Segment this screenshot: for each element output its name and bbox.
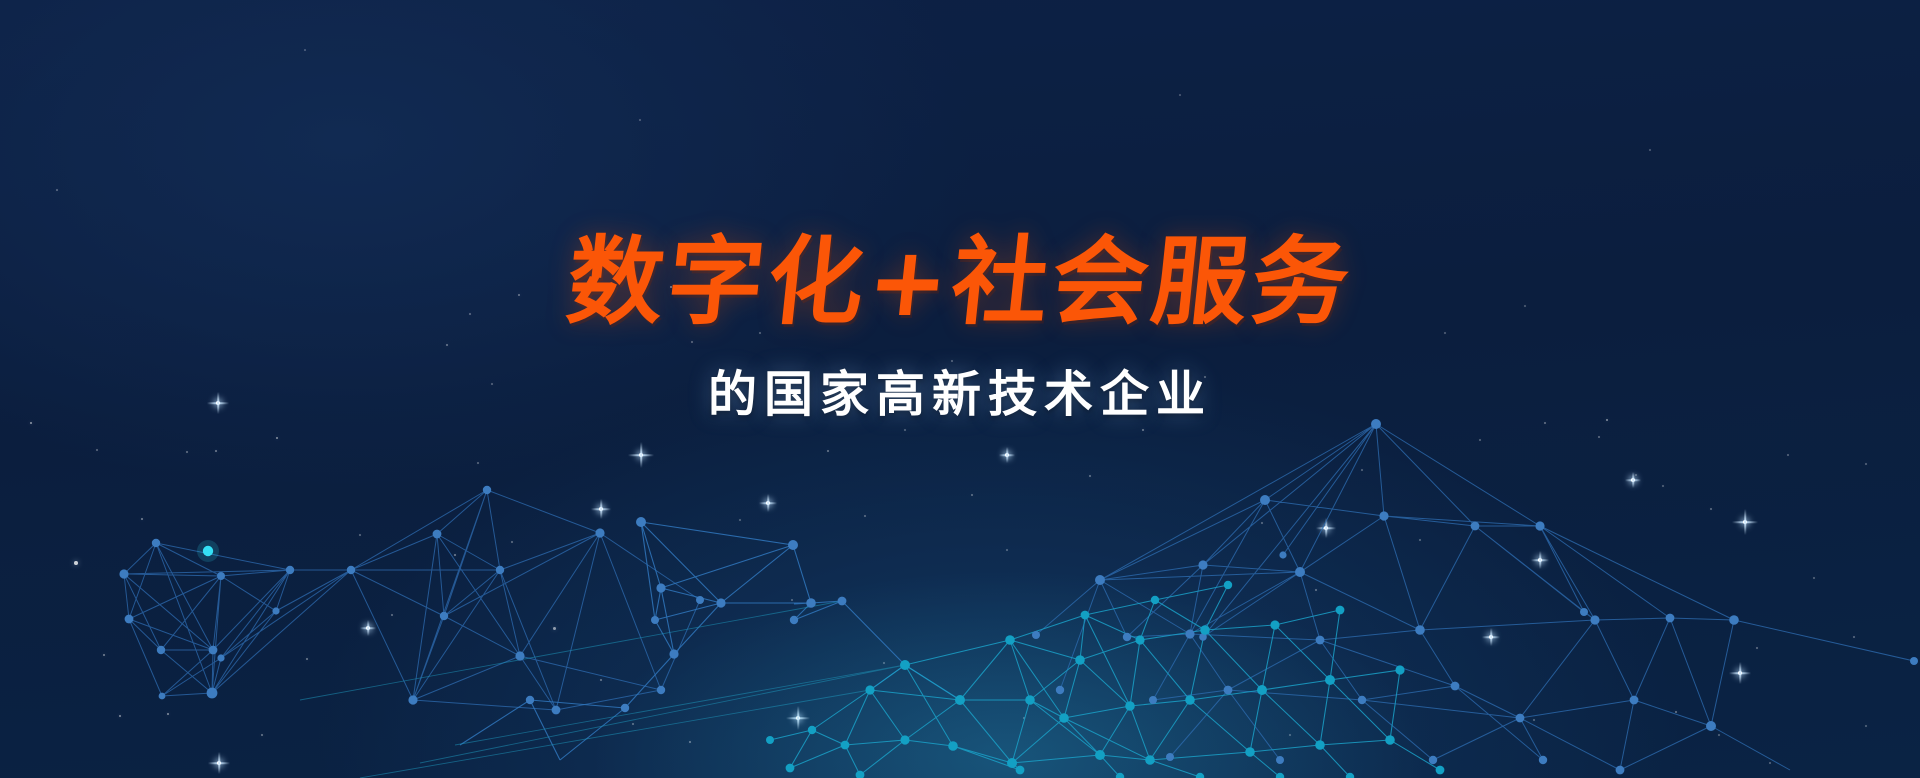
star-sparkle-icon — [1316, 518, 1336, 538]
star-dot — [1361, 469, 1363, 471]
star-dot — [1006, 549, 1008, 551]
star-dot — [883, 662, 885, 664]
star-dot — [1756, 647, 1758, 649]
star-dot — [215, 450, 217, 452]
star-dot — [141, 518, 143, 520]
star-dot — [827, 450, 829, 452]
star-dot — [639, 119, 641, 121]
star-dot — [1787, 454, 1789, 456]
star-dot — [1635, 474, 1637, 476]
star-dot — [477, 462, 479, 464]
star-dot — [1769, 762, 1771, 764]
star-dot — [1089, 475, 1091, 477]
star-dot — [1479, 439, 1481, 441]
hero-banner: 数字化+社会服务 的国家高新技术企业 — [0, 0, 1920, 778]
star-dot — [1023, 717, 1025, 719]
star-sparkle-icon — [628, 442, 654, 468]
star-dot — [553, 627, 556, 630]
star-dot — [1598, 436, 1600, 438]
star-dot — [511, 541, 513, 543]
star-dot — [1261, 522, 1263, 524]
star-dot — [1289, 734, 1291, 736]
star-dot — [304, 49, 306, 51]
page-subtitle: 的国家高新技术企业 — [0, 355, 1920, 426]
star-dot — [791, 599, 793, 601]
star-dot — [186, 451, 188, 453]
star-dot — [1853, 636, 1855, 638]
network-long-rays — [300, 601, 905, 778]
star-sparkle-icon — [999, 447, 1015, 463]
star-dot — [454, 554, 456, 556]
star-dot — [1865, 725, 1867, 727]
star-dot — [1813, 577, 1815, 579]
star-sparkle-icon — [208, 752, 230, 774]
star-dot — [1662, 485, 1664, 487]
star-dot — [74, 561, 78, 565]
star-dot — [1315, 589, 1317, 591]
star-dot — [1675, 711, 1677, 713]
star-dot — [391, 614, 393, 616]
star-dot — [119, 715, 122, 718]
star-dot — [359, 534, 361, 536]
star-dot — [56, 189, 58, 191]
star-dot — [864, 515, 866, 517]
star-dot — [276, 437, 279, 440]
star-sparkle-icon — [591, 499, 611, 519]
network-nodes-teal — [766, 581, 1444, 778]
network-nodes-blue — [119, 419, 1918, 774]
star-dot — [1865, 463, 1867, 465]
star-dot — [1649, 149, 1651, 151]
star-sparkle-icon — [360, 620, 376, 636]
star-dot — [1718, 734, 1720, 736]
star-sparkle-icon — [1625, 472, 1641, 488]
star-dot — [306, 658, 308, 660]
star-dot — [904, 429, 906, 431]
star-dot — [96, 449, 98, 451]
network-edges-teal-cluster — [770, 585, 1440, 777]
network-edges-left — [124, 543, 351, 696]
star-sparkle-icon — [1531, 551, 1549, 569]
network-edges-right — [1036, 424, 1914, 770]
star-dot — [1710, 508, 1712, 510]
star-sparkle-icon — [1729, 662, 1751, 684]
network-edges-center — [460, 522, 960, 760]
star-dot — [1533, 719, 1535, 721]
star-dot — [167, 713, 170, 716]
star-dot — [689, 741, 691, 743]
network-edges-center-left — [351, 490, 700, 710]
star-dot — [261, 734, 263, 736]
star-dot — [600, 679, 602, 681]
hero-text-block: 数字化+社会服务 的国家高新技术企业 — [0, 232, 1920, 426]
star-dot — [739, 519, 741, 521]
star-dot — [103, 654, 105, 656]
star-sparkle-icon — [1482, 628, 1500, 646]
star-dot — [1179, 94, 1181, 96]
star-sparkle-icon — [759, 494, 777, 512]
page-title: 数字化+社会服务 — [0, 232, 1920, 333]
star-dot — [1419, 539, 1421, 541]
star-sparkle-icon — [786, 706, 810, 730]
star-dot — [632, 723, 634, 725]
network-node-highlight — [197, 540, 219, 562]
star-sparkle-icon — [1732, 509, 1758, 535]
star-dot — [1142, 429, 1144, 431]
star-dot — [971, 494, 973, 496]
